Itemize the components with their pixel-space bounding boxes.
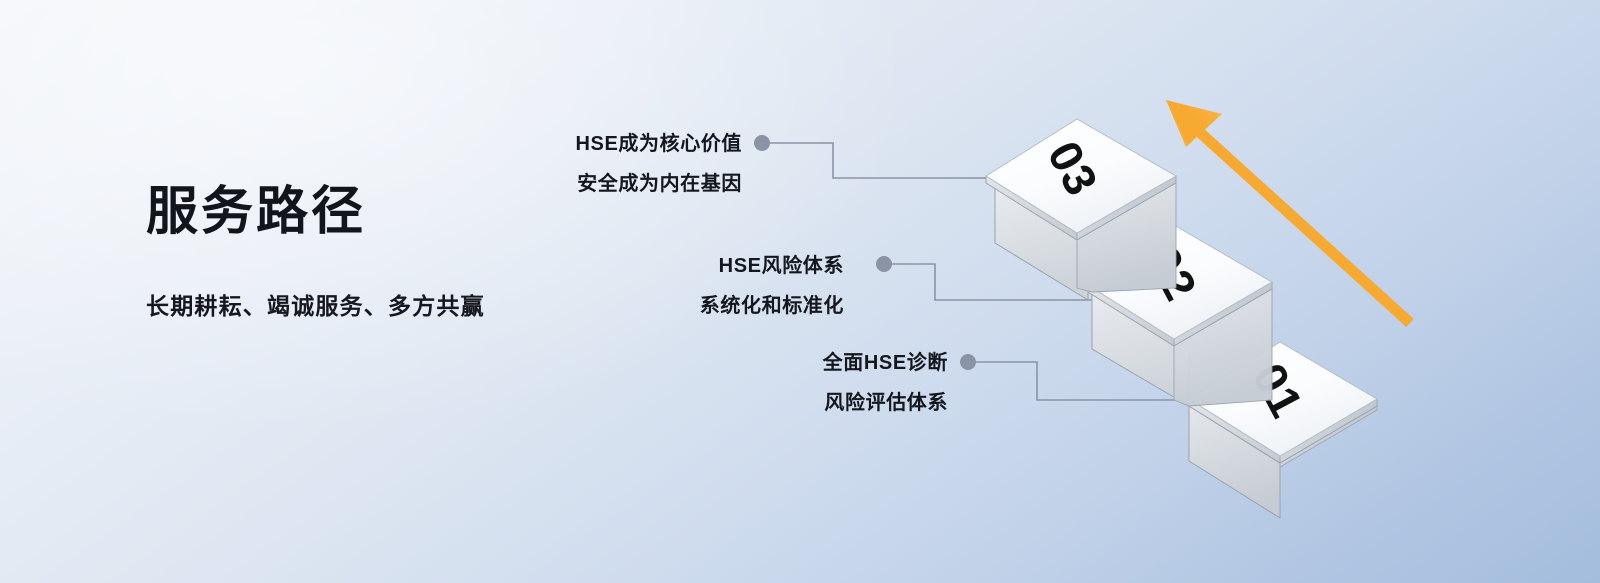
step-callout-02: HSE风险体系 系统化和标准化 [484,256,844,316]
connector-dot-02 [876,256,892,272]
step-callout-02-line1: HSE风险体系 [484,256,844,276]
slide-canvas: 服务路径 长期耕耘、竭诚服务、多方共赢 HSE成为核心价值 安全成为内在基因 H… [0,0,1600,583]
connector-dot-01 [960,354,976,370]
step-callout-01-line1: 全面HSE诊断 [600,353,948,373]
step-callout-03-line2: 安全成为内在基因 [360,154,742,194]
connector-dot-03 [754,135,770,151]
step-callout-01: 全面HSE诊断 风险评估体系 [600,353,948,413]
step-callout-02-line2: 系统化和标准化 [484,276,844,316]
step-callout-01-line2: 风险评估体系 [600,373,948,413]
step-callout-03: HSE成为核心价值 安全成为内在基因 [360,134,742,194]
step-block-03: 03 [986,119,1176,300]
step-callout-03-line1: HSE成为核心价值 [360,134,742,154]
connector-line-03 [770,143,995,178]
heading-block: 服务路径 长期耕耘、竭诚服务、多方共赢 [146,182,485,321]
page-subtitle: 长期耕耘、竭诚服务、多方共赢 [146,243,485,321]
